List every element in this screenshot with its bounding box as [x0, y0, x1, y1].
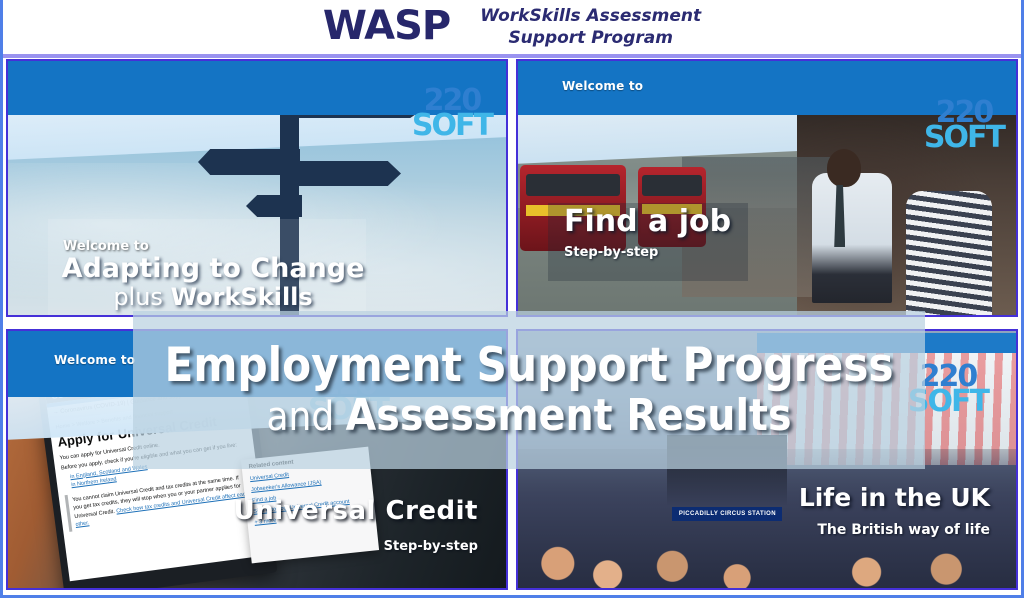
- panel-subtitle: The British way of life: [817, 522, 990, 538]
- overlay-title-line2-thin: and: [266, 394, 345, 440]
- welcome-label: Welcome to: [54, 353, 135, 367]
- signpost-arm-icon: [246, 195, 302, 217]
- panel-title-line1: Adapting to Change: [48, 253, 378, 284]
- welcome-label: Welcome to: [63, 239, 149, 254]
- commuter-head: [827, 149, 861, 187]
- brand-220soft-logo: 220 SOFT: [412, 89, 492, 138]
- program-subtitle: WorkSkills Assessment Support Program: [480, 6, 701, 49]
- station-sign: PICCADILLY CIRCUS STATION: [672, 507, 782, 521]
- overlay-title-line2-bold: Assessment Results: [346, 390, 792, 441]
- bus-window: [526, 174, 619, 196]
- panel-subtitle: Step-by-step: [384, 539, 478, 554]
- striped-top-figure: [906, 191, 992, 315]
- panel-title: Life in the UK: [799, 483, 990, 512]
- panel-subtitle: Step-by-step: [564, 245, 658, 260]
- panel-title: Adapting to Change plus WorkSkills and A…: [48, 253, 378, 317]
- slide-canvas: WASP WorkSkills Assessment Support Progr…: [0, 0, 1024, 598]
- brand-220soft-logo: 220 SOFT: [924, 101, 1004, 150]
- signpost-arm-icon: [198, 149, 300, 175]
- program-subtitle-line2: Support Program: [480, 28, 701, 49]
- signpost-arm-icon: [291, 161, 401, 186]
- welcome-label: Welcome to: [562, 79, 643, 93]
- wasp-logo-text: WASP: [323, 6, 450, 50]
- panel-title: Find a job: [564, 204, 731, 239]
- overlay-title-line2: and Assessment Results: [266, 393, 791, 439]
- overlay-title-line1: Employment Support Progress: [164, 341, 893, 390]
- panel-title-line2: plus WorkSkills: [48, 284, 378, 312]
- brand-soft-text: SOFT: [924, 126, 1004, 151]
- program-subtitle-line1: WorkSkills Assessment: [480, 6, 701, 27]
- center-title-overlay: Employment Support Progress and Assessme…: [133, 311, 925, 469]
- bus-window: [642, 175, 702, 196]
- panel-adapting-to-change[interactable]: 220 SOFT Welcome to Adapting to Change p…: [6, 59, 508, 317]
- page-header: WASP WorkSkills Assessment Support Progr…: [3, 0, 1021, 55]
- commuter-figure: [812, 173, 892, 303]
- brand-soft-text: SOFT: [412, 114, 492, 139]
- panel-title: Universal Credit: [234, 496, 478, 526]
- panel-find-a-job[interactable]: Welcome to 220 SOFT Find a job Step-by-s…: [516, 59, 1018, 317]
